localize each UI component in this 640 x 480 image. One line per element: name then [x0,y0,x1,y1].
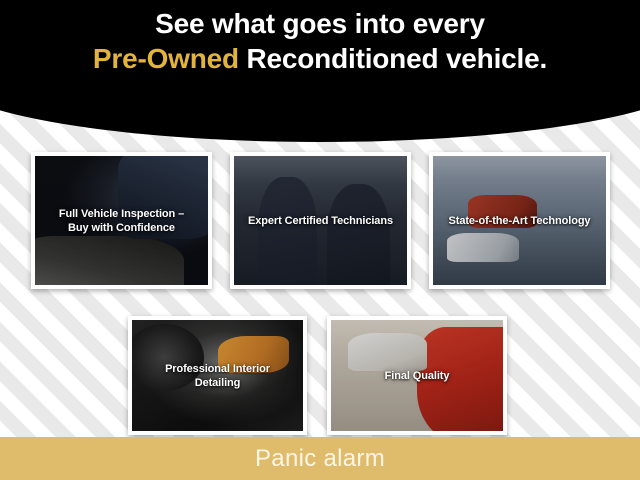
feature-card-label: Full Vehicle Inspection – Buy with Confi… [35,207,208,235]
hero-header: See what goes into every Pre-Owned Recon… [0,0,640,142]
bottom-caption-text: Panic alarm [255,445,385,473]
headline-line-2-rest: Reconditioned vehicle. [239,43,547,74]
hero-header-inner: See what goes into every Pre-Owned Recon… [0,0,640,142]
headline-line-1: See what goes into every [0,6,640,41]
feature-card-state-of-the-art-technology[interactable]: State-of-the-Art Technology [429,152,610,289]
feature-card-label: State-of-the-Art Technology [433,214,606,228]
feature-card-label: Expert Certified Technicians [234,214,407,228]
feature-card-label: Professional Interior Detailing [132,362,303,390]
feature-card-professional-interior-detailing[interactable]: Professional Interior Detailing [128,316,307,435]
feature-card-label: Final Quality [331,369,503,383]
feature-card-full-vehicle-inspection[interactable]: Full Vehicle Inspection – Buy with Confi… [31,152,212,289]
feature-card-final-quality[interactable]: Final Quality [327,316,507,435]
page-title: See what goes into every Pre-Owned Recon… [0,6,640,76]
feature-card-expert-certified-technicians[interactable]: Expert Certified Technicians [230,152,411,289]
headline-line-2: Pre-Owned Reconditioned vehicle. [0,41,640,76]
headline-highlight: Pre-Owned [93,43,239,74]
slide-canvas: See what goes into every Pre-Owned Recon… [0,0,640,480]
bottom-caption-banner: Panic alarm [0,437,640,480]
